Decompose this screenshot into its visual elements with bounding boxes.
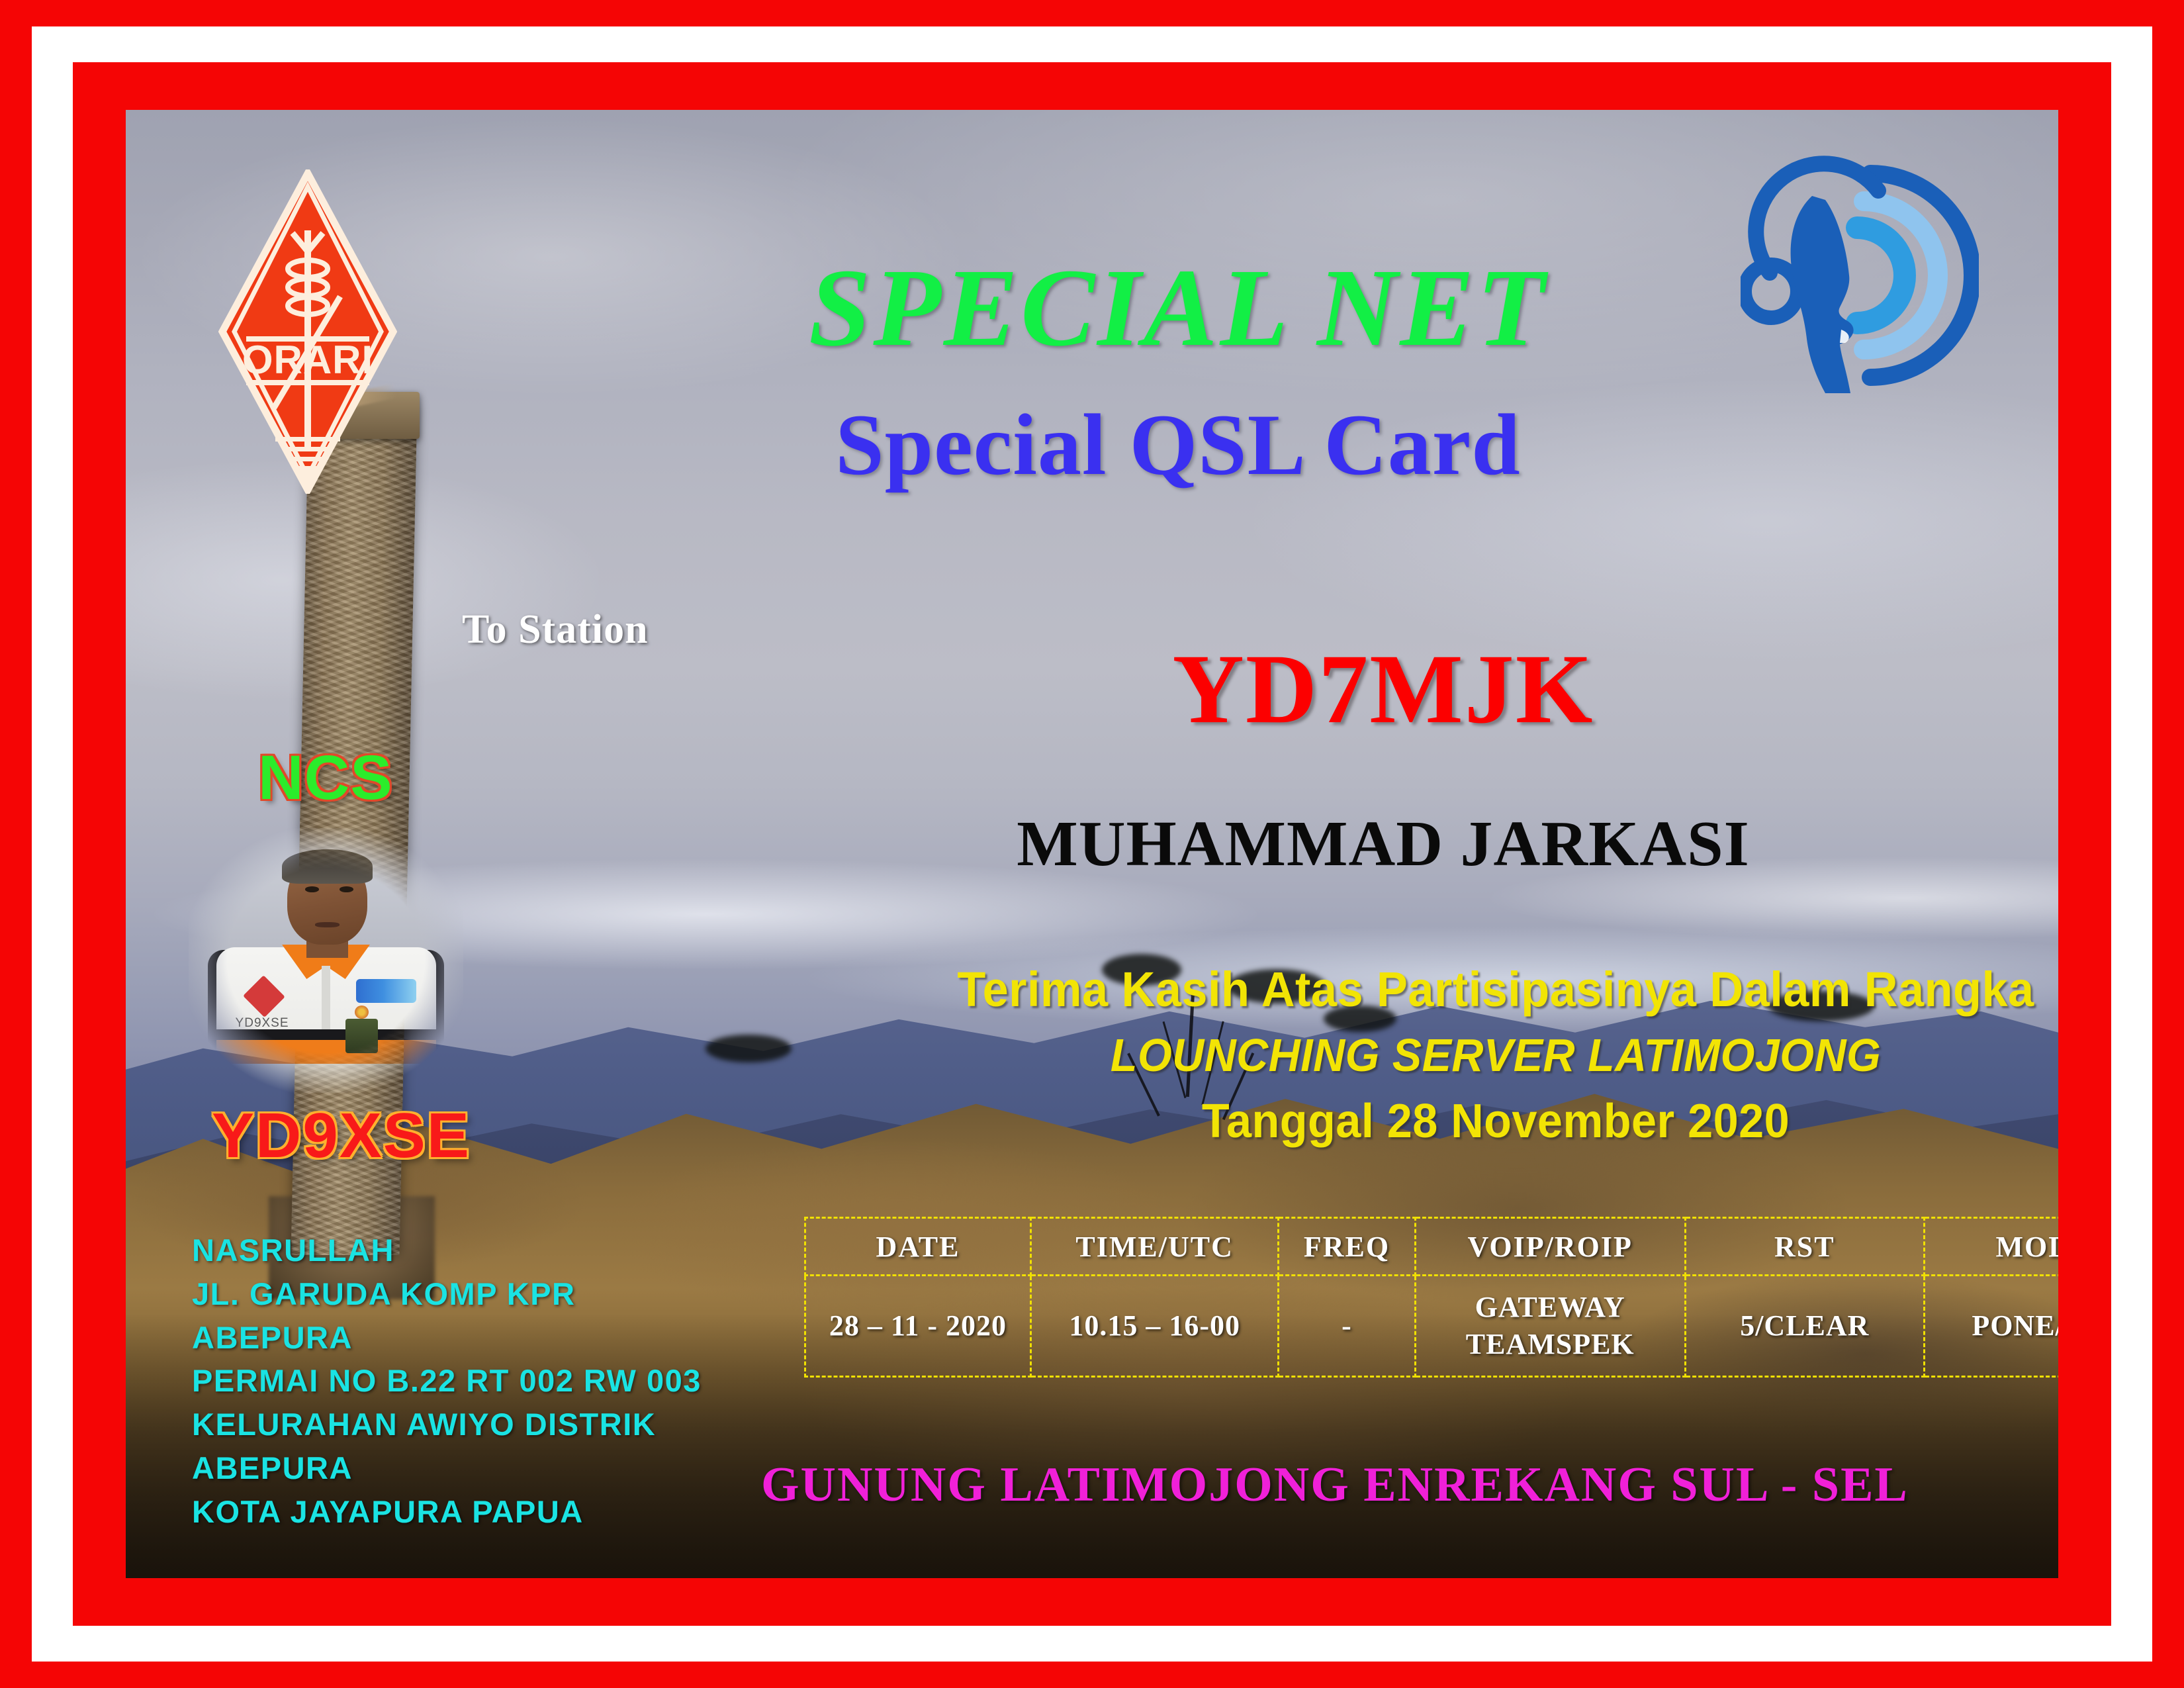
address-line: KELURAHAN AWIYO DISTRIK — [192, 1403, 735, 1446]
thanks-block: Terima Kasih Atas Partisipasinya Dalam R… — [827, 964, 2058, 1147]
qsl-card-outer-border: ORARI SPECIAL NET Special QSL C — [0, 0, 2184, 1688]
ncs-operator-photo: YD9XSE — [189, 828, 463, 1093]
page-title-special-net: SPECIAL NET — [549, 252, 1807, 363]
thanks-line-1: Terima Kasih Atas Partisipasinya Dalam R… — [861, 964, 2059, 1015]
qso-log-table: DATE TIME/UTC FREQ VOIP/ROIP RST MODE 28… — [804, 1217, 2058, 1378]
column-header-rst: RST — [1685, 1218, 1924, 1276]
cell-time: 10.15 – 16-00 — [1030, 1276, 1279, 1377]
svg-text:ORARI: ORARI — [242, 338, 373, 382]
id-badge — [345, 1019, 379, 1053]
uniform-sash — [216, 1040, 436, 1064]
cell-voip-line1: GATEWAY — [1475, 1291, 1625, 1323]
ncs-label: NCS — [258, 742, 393, 814]
cell-date: 28 – 11 - 2020 — [805, 1276, 1031, 1377]
cell-voip: GATEWAY TEAMSPEK — [1415, 1276, 1685, 1377]
card-white-gap: ORARI SPECIAL NET Special QSL C — [32, 26, 2152, 1662]
column-header-voip: VOIP/ROIP — [1415, 1218, 1685, 1276]
address-line: NASRULLAH — [192, 1229, 735, 1272]
recipient-callsign: YD7MJK — [920, 639, 1846, 739]
portrait-hair — [282, 849, 373, 884]
cell-mode: PONE/CW — [1924, 1276, 2058, 1377]
id-badge-clip — [355, 1006, 369, 1019]
portrait-eye-left — [305, 886, 319, 892]
address-line: PERMAI NO B.22 RT 002 RW 003 — [192, 1359, 735, 1403]
uniform-callsign-stitch: YD9XSE — [236, 1016, 289, 1031]
portrait-eye-right — [340, 886, 353, 892]
cell-voip-line2: TEAMSPEK — [1466, 1328, 1635, 1360]
cell-rst: 5/CLEAR — [1685, 1276, 1924, 1377]
card-photo-background: ORARI SPECIAL NET Special QSL C — [126, 110, 2058, 1578]
column-header-mode: MODE — [1924, 1218, 2058, 1276]
table-header-row: DATE TIME/UTC FREQ VOIP/ROIP RST MODE — [805, 1218, 2059, 1276]
address-line: ABEPURA — [192, 1446, 735, 1490]
column-header-time: TIME/UTC — [1030, 1218, 1279, 1276]
address-line: JL. GARUDA KOMP KPR — [192, 1272, 735, 1316]
card-inner-red-border: ORARI SPECIAL NET Special QSL C — [73, 62, 2111, 1626]
thanks-line-3-date: Tanggal 28 November 2020 — [861, 1097, 2059, 1147]
recipient-operator-name: MUHAMMAD JARKASI — [920, 812, 1846, 876]
orari-logo: ORARI — [218, 169, 397, 494]
column-header-date: DATE — [805, 1218, 1031, 1276]
uniform-patch-right — [356, 979, 416, 1003]
page-subtitle-qsl-card: Special QSL Card — [549, 401, 1807, 489]
location-line: GUNUNG LATIMOJONG ENREKANG SUL - SEL — [761, 1457, 2019, 1513]
table-row: 28 – 11 - 2020 10.15 – 16-00 - GATEWAY T… — [805, 1276, 2059, 1377]
to-station-label: To Station — [462, 606, 649, 653]
portrait-mouth — [315, 922, 340, 927]
address-line: ABEPURA — [192, 1316, 735, 1360]
thanks-line-2-event: LOUNCHING SERVER LATIMOJONG — [861, 1031, 2059, 1080]
ncs-address-block: NASRULLAH JL. GARUDA KOMP KPR ABEPURA PE… — [192, 1229, 735, 1534]
ncs-callsign: YD9XSE — [212, 1100, 471, 1172]
cell-freq: - — [1279, 1276, 1415, 1377]
column-header-freq: FREQ — [1279, 1218, 1415, 1276]
address-line: KOTA JAYAPURA PAPUA — [192, 1490, 735, 1534]
